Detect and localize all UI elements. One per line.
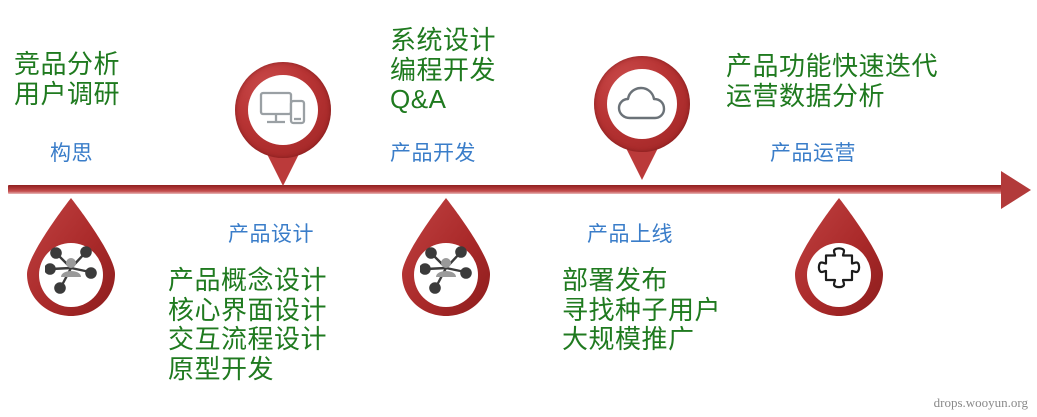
timeline-axis-line [8, 185, 1008, 194]
timeline-diagram: 竞品分析 用户调研 构思 [0, 0, 1037, 417]
stage-4-details: 部署发布 寻找种子用户 大规模推广 [562, 266, 721, 355]
stage-1-marker-droplet[interactable] [19, 196, 123, 318]
network-users-icon [43, 240, 99, 296]
stage-2-details: 产品概念设计 核心界面设计 交互流程设计 原型开发 [168, 266, 327, 385]
stage-3-marker-droplet[interactable] [394, 196, 498, 318]
stage-5-label: 产品运营 [770, 142, 856, 166]
stage-3-details: 系统设计 编程开发 Q&A [390, 26, 496, 115]
network-users-icon [418, 240, 474, 296]
stage-5-details: 产品功能快速迭代 运营数据分析 [726, 52, 938, 111]
stage-2-marker-pin[interactable] [235, 62, 331, 186]
stage-1-label: 构思 [50, 142, 93, 166]
stage-4-marker-pin[interactable] [594, 56, 690, 180]
stage-1-details: 竞品分析 用户调研 [14, 50, 120, 109]
devices-monitor-phone-icon [248, 75, 318, 145]
timeline-arrowhead-icon [1001, 171, 1031, 209]
stage-3-label: 产品开发 [390, 142, 476, 166]
cloud-icon [607, 69, 677, 139]
puzzle-piece-icon [811, 240, 867, 296]
stage-4-label: 产品上线 [587, 223, 673, 247]
stage-2-label: 产品设计 [228, 223, 314, 247]
watermark: drops.wooyun.org [934, 395, 1028, 411]
stage-5-marker-droplet[interactable] [787, 196, 891, 318]
